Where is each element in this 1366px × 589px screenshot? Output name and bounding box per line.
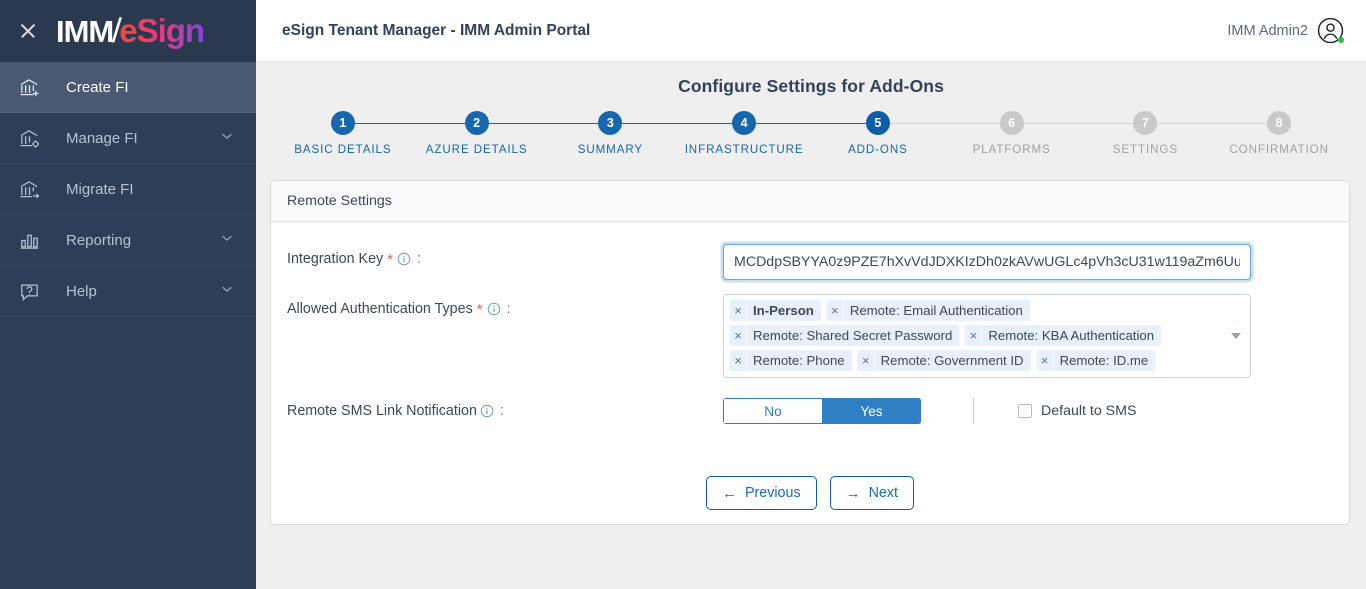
integration-key-input[interactable] bbox=[723, 244, 1251, 280]
tag-label: Remote: Shared Secret Password bbox=[747, 325, 959, 346]
tag-label: Remote: Phone bbox=[747, 350, 852, 371]
user-name-label: IMM Admin2 bbox=[1227, 23, 1308, 39]
step-label: SETTINGS bbox=[1079, 143, 1213, 156]
tag-label: Remote: Government ID bbox=[875, 350, 1031, 371]
user-menu[interactable]: IMM Admin2 bbox=[1227, 17, 1344, 44]
info-icon[interactable] bbox=[397, 252, 411, 266]
sms-toggle-no[interactable]: No bbox=[723, 398, 822, 424]
sms-label-group: Remote SMS Link Notification : bbox=[287, 403, 723, 419]
bank-plus-icon bbox=[18, 76, 52, 99]
required-asterisk: * bbox=[386, 252, 394, 267]
remove-tag-icon[interactable]: × bbox=[730, 350, 747, 371]
page-title: Configure Settings for Add-Ons bbox=[256, 62, 1366, 97]
divider bbox=[973, 398, 974, 424]
step-number: 6 bbox=[1000, 111, 1024, 135]
sidebar: IMM / eSign Create FI bbox=[0, 0, 256, 589]
info-icon[interactable] bbox=[480, 404, 494, 418]
avatar[interactable] bbox=[1317, 17, 1344, 44]
remove-tag-icon[interactable]: × bbox=[965, 325, 982, 346]
step-label: CONFIRMATION bbox=[1212, 143, 1346, 156]
step-number: 4 bbox=[732, 111, 756, 135]
sidebar-item-label: Help bbox=[52, 283, 220, 300]
auth-types-multiselect[interactable]: × In-Person × Remote: Email Authenticati… bbox=[723, 294, 1251, 378]
integration-key-control bbox=[723, 244, 1333, 280]
integration-key-label-group: Integration Key * : bbox=[287, 244, 723, 267]
remove-tag-icon[interactable]: × bbox=[1037, 350, 1054, 371]
tag-remote-email-authentication[interactable]: × Remote: Email Authentication bbox=[827, 300, 1030, 321]
step-basic-details[interactable]: 1 BASIC DETAILS bbox=[276, 111, 410, 156]
previous-button-label: Previous bbox=[745, 485, 801, 501]
label-colon: : bbox=[414, 251, 421, 267]
step-number: 7 bbox=[1133, 111, 1157, 135]
tag-remote-shared-secret-password[interactable]: × Remote: Shared Secret Password bbox=[730, 325, 959, 346]
tag-remote-kba-authentication[interactable]: × Remote: KBA Authentication bbox=[965, 325, 1161, 346]
field-row-auth-types: Allowed Authentication Types * : bbox=[287, 294, 1333, 378]
bank-gear-icon bbox=[18, 127, 52, 150]
step-number: 3 bbox=[598, 111, 622, 135]
app-root: IMM / eSign Create FI bbox=[0, 0, 1366, 589]
arrow-left-icon: ← bbox=[722, 486, 737, 501]
tag-in-person[interactable]: × In-Person bbox=[730, 300, 821, 321]
remove-tag-icon[interactable]: × bbox=[858, 350, 875, 371]
wizard-button-row: ← Previous → Next bbox=[287, 476, 1333, 510]
bar-chart-icon bbox=[18, 229, 52, 252]
sidebar-nav: Create FI Manage FI bbox=[0, 62, 256, 317]
step-azure-details[interactable]: 2 AZURE DETAILS bbox=[410, 111, 544, 156]
step-summary[interactable]: 3 SUMMARY bbox=[544, 111, 678, 156]
integration-key-label: Integration Key bbox=[287, 251, 383, 267]
wizard-stepper: 1 BASIC DETAILS 2 AZURE DETAILS 3 SUMMAR… bbox=[276, 111, 1346, 156]
label-colon: : bbox=[504, 301, 511, 317]
field-row-integration-key: Integration Key * : bbox=[287, 244, 1333, 280]
sidebar-item-label: Migrate FI bbox=[52, 181, 234, 198]
sms-control: No Yes Default to SMS bbox=[723, 398, 1333, 424]
step-label: AZURE DETAILS bbox=[410, 143, 544, 156]
chevron-down-icon[interactable] bbox=[220, 129, 234, 147]
main-area: eSign Tenant Manager - IMM Admin Portal … bbox=[256, 0, 1366, 589]
step-add-ons[interactable]: 5 ADD-ONS bbox=[811, 111, 945, 156]
tag-remote-id-me[interactable]: × Remote: ID.me bbox=[1037, 350, 1156, 371]
sms-toggle-group: No Yes bbox=[723, 398, 921, 424]
step-label: ADD-ONS bbox=[811, 143, 945, 156]
top-bar: eSign Tenant Manager - IMM Admin Portal … bbox=[256, 0, 1366, 62]
arrow-right-icon: → bbox=[846, 486, 861, 501]
step-label: INFRASTRUCTURE bbox=[677, 143, 811, 156]
bank-arrow-icon bbox=[18, 178, 52, 201]
app-logo: IMM / eSign bbox=[56, 12, 204, 51]
page-breadcrumb-title: eSign Tenant Manager - IMM Admin Portal bbox=[282, 22, 590, 40]
step-number: 5 bbox=[866, 111, 890, 135]
close-icon[interactable] bbox=[18, 21, 38, 41]
remove-tag-icon[interactable]: × bbox=[827, 300, 844, 321]
step-platforms[interactable]: 6 PLATFORMS bbox=[945, 111, 1079, 156]
next-button-label: Next bbox=[869, 485, 898, 501]
default-to-sms-checkbox[interactable]: Default to SMS bbox=[1018, 403, 1136, 419]
sidebar-item-manage-fi[interactable]: Manage FI bbox=[0, 113, 256, 164]
label-colon: : bbox=[497, 403, 504, 419]
chevron-down-icon[interactable] bbox=[1231, 333, 1241, 339]
remove-tag-icon[interactable]: × bbox=[730, 300, 747, 321]
step-infrastructure[interactable]: 4 INFRASTRUCTURE bbox=[677, 111, 811, 156]
previous-button[interactable]: ← Previous bbox=[706, 476, 817, 510]
sidebar-item-label: Manage FI bbox=[52, 130, 220, 147]
auth-types-label: Allowed Authentication Types bbox=[287, 301, 473, 317]
help-bubble-icon bbox=[18, 280, 52, 303]
content-region: Configure Settings for Add-Ons 1 BASIC D… bbox=[256, 62, 1366, 589]
step-label: BASIC DETAILS bbox=[276, 143, 410, 156]
brand-bar: IMM / eSign bbox=[0, 0, 256, 62]
sidebar-item-migrate-fi[interactable]: Migrate FI bbox=[0, 164, 256, 215]
tag-label: Remote: ID.me bbox=[1054, 350, 1156, 371]
sms-toggle-yes[interactable]: Yes bbox=[822, 398, 921, 424]
sidebar-item-help[interactable]: Help bbox=[0, 266, 256, 317]
step-number: 1 bbox=[331, 111, 355, 135]
remote-settings-card: Remote Settings Integration Key * bbox=[270, 180, 1350, 525]
tag-remote-government-id[interactable]: × Remote: Government ID bbox=[858, 350, 1031, 371]
info-icon[interactable] bbox=[487, 302, 501, 316]
sidebar-item-reporting[interactable]: Reporting bbox=[0, 215, 256, 266]
step-confirmation[interactable]: 8 CONFIRMATION bbox=[1212, 111, 1346, 156]
auth-types-control: × In-Person × Remote: Email Authenticati… bbox=[723, 294, 1333, 378]
tag-label: In-Person bbox=[747, 300, 821, 321]
logo-slash: / bbox=[112, 12, 122, 51]
tag-label: Remote: KBA Authentication bbox=[982, 325, 1161, 346]
sidebar-item-label: Reporting bbox=[52, 232, 220, 249]
step-settings[interactable]: 7 SETTINGS bbox=[1079, 111, 1213, 156]
remove-tag-icon[interactable]: × bbox=[730, 325, 747, 346]
step-number: 8 bbox=[1267, 111, 1291, 135]
logo-imm-text: IMM bbox=[56, 14, 113, 50]
card-body: Integration Key * : bbox=[271, 222, 1349, 524]
sidebar-item-label: Create FI bbox=[52, 79, 234, 96]
next-button[interactable]: → Next bbox=[830, 476, 914, 510]
step-label: SUMMARY bbox=[544, 143, 678, 156]
required-asterisk: * bbox=[476, 302, 484, 317]
sms-label: Remote SMS Link Notification bbox=[287, 403, 477, 419]
checkbox-box[interactable] bbox=[1018, 404, 1032, 418]
auth-types-label-group: Allowed Authentication Types * : bbox=[287, 294, 723, 317]
tag-remote-phone[interactable]: × Remote: Phone bbox=[730, 350, 852, 371]
sidebar-item-create-fi[interactable]: Create FI bbox=[0, 62, 256, 113]
tag-label: Remote: Email Authentication bbox=[844, 300, 1030, 321]
chevron-down-icon[interactable] bbox=[220, 282, 234, 300]
checkbox-label: Default to SMS bbox=[1041, 403, 1136, 419]
chevron-down-icon[interactable] bbox=[220, 231, 234, 249]
logo-esign-text: eSign bbox=[119, 12, 204, 50]
step-label: PLATFORMS bbox=[945, 143, 1079, 156]
card-header-title: Remote Settings bbox=[271, 181, 1349, 222]
step-number: 2 bbox=[465, 111, 489, 135]
field-row-sms-notification: Remote SMS Link Notification : bbox=[287, 398, 1333, 424]
status-badge bbox=[1338, 37, 1344, 43]
